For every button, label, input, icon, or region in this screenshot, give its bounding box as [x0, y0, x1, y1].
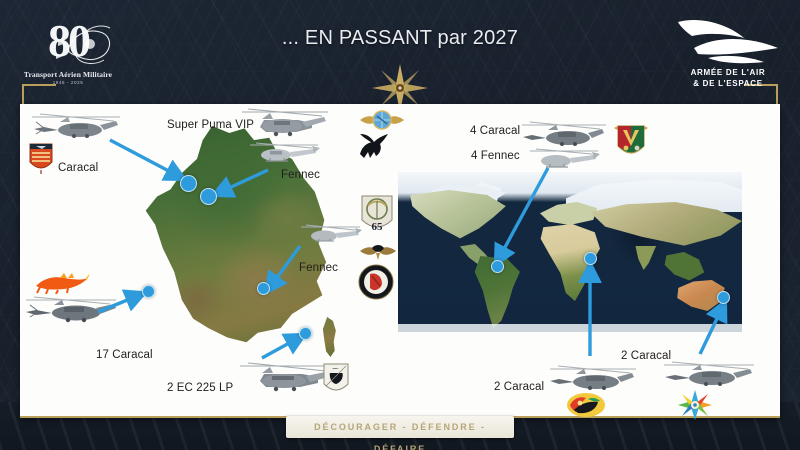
label-4-fennec: 4 Fennec: [471, 150, 520, 162]
marker-cazaux[interactable]: [142, 285, 155, 298]
logo-transport-aerien-militaire: 80 Transport Aérien Militaire 1945 - 202…: [12, 14, 124, 92]
badge-escadron-65: 65: [360, 194, 394, 234]
world-india: [634, 246, 658, 270]
badge-winged-eagle: [360, 242, 396, 262]
label-2-caracal-guyane: 2 Caracal: [494, 381, 544, 393]
world-north-america: [406, 190, 510, 252]
marker-orleans[interactable]: [200, 188, 217, 205]
aae-line2: & DE L'ESPACE: [664, 79, 792, 88]
logo-subtitle: Transport Aérien Militaire: [12, 70, 124, 79]
label-fennec-se: Fennec: [299, 262, 338, 274]
badge-caracal-orange-cat: [34, 272, 90, 294]
badge-winged-globe: [360, 110, 404, 132]
logo-armee-de-lair-et-de-lespace: ARMÉE DE L'AIR & DE L'ESPACE: [664, 14, 792, 94]
badge-corsica-moors-head: [322, 362, 350, 396]
label-fennec-ne: Fennec: [281, 169, 320, 181]
badge-guyane-oval: [566, 392, 606, 418]
badge-round-red-emblem: [358, 264, 394, 300]
heli-fennec-ne: [248, 140, 322, 168]
world-antarctica: [398, 324, 742, 332]
label-17-caracal: 17 Caracal: [96, 349, 153, 361]
world-africa: [538, 224, 604, 306]
marker-guyane[interactable]: [491, 260, 504, 273]
label-caracal-nw: Caracal: [58, 162, 98, 174]
world-southeast-asia: [662, 252, 706, 286]
badge-black-pegasus: [356, 130, 392, 160]
aae-line1: ARMÉE DE L'AIR: [664, 68, 792, 77]
aae-wing-icon: [674, 14, 782, 68]
logo-dragon-icon: [56, 20, 116, 68]
heli-caracal-nw: [30, 110, 122, 144]
badge-pacific-starburst: [678, 390, 712, 420]
label-2-ec-225-lp: 2 EC 225 LP: [167, 382, 233, 394]
heli-fennec-oversea: [528, 146, 602, 174]
world-relief-map: [398, 172, 742, 332]
corsica-landmass: [320, 317, 338, 357]
label-super-puma-vip: Super Puma VIP: [167, 119, 254, 131]
motto-text: DÉCOURAGER - DÉFENDRE - DÉFAIRE: [286, 416, 514, 438]
marker-villacoublay[interactable]: [180, 175, 197, 192]
heli-caracal-guyane: [548, 362, 638, 396]
marker-solenzara[interactable]: [299, 327, 312, 340]
slide-root: ... EN PASSANT par 2027 80 Transport Aér…: [0, 0, 800, 450]
logo-years: 1945 - 2025: [12, 80, 124, 85]
marker-nouvelle-caledonie[interactable]: [717, 291, 730, 304]
label-2-caracal-pacific: 2 Caracal: [621, 350, 671, 362]
label-4-caracal: 4 Caracal: [470, 125, 520, 137]
badge-65-number: 65: [372, 221, 384, 233]
badge-shield-striped-red: [28, 142, 54, 174]
heli-caracal-pacific: [662, 358, 756, 392]
heli-caracal-sw: [22, 292, 120, 328]
marker-orange[interactable]: [257, 282, 270, 295]
heli-fennec-se: [300, 222, 364, 248]
badge-shield-v-gold-wings: [614, 120, 648, 160]
marker-djibouti[interactable]: [584, 252, 597, 265]
